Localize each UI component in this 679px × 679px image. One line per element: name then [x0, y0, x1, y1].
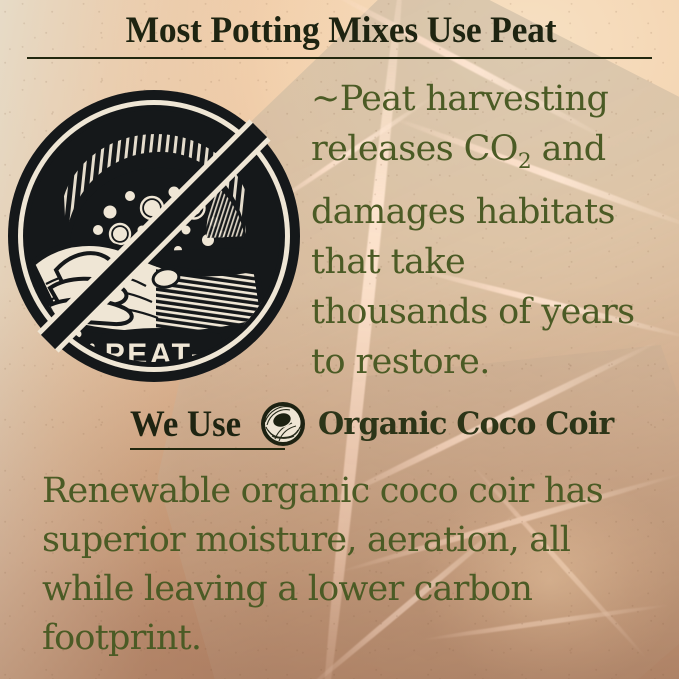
organic-coco-coir-label: Organic Coco Coir — [318, 406, 614, 442]
we-use-label: We Use — [130, 403, 241, 446]
peat-free-badge: PEAT- -FREE- — [6, 88, 302, 384]
coconut-coir-icon — [260, 401, 306, 447]
body-line-1: Renewable organic coco coir has — [42, 471, 603, 511]
coco-coir-benefits-paragraph: Renewable organic coco coir has superior… — [42, 467, 652, 663]
peat-line-6: to restore. — [311, 342, 490, 382]
peat-line-2-post: and — [531, 129, 606, 169]
body-line-4: footprint. — [42, 618, 201, 658]
peat-impact-paragraph: ~Peat harvesting releases CO2 and damage… — [311, 74, 673, 387]
peat-line-1: ~Peat harvesting — [311, 79, 608, 119]
page-title-underline — [27, 57, 652, 59]
peat-line-4: that take — [311, 242, 465, 282]
body-line-2: superior moisture, aeration, all — [42, 520, 570, 560]
peat-line-3: damages habitats — [311, 192, 615, 232]
we-use-row: We Use — [130, 401, 623, 447]
page-title: Most Potting Mixes Use Peat — [39, 9, 644, 52]
peat-line-5: thousands of years — [311, 292, 634, 332]
peat-line-2-pre: releases CO — [311, 129, 518, 169]
we-use-underline — [130, 448, 285, 450]
body-line-3: while leaving a lower carbon — [42, 569, 532, 609]
peat-free-infographic: Most Potting Mixes Use Peat — [0, 0, 679, 679]
co2-subscript: 2 — [518, 149, 531, 174]
